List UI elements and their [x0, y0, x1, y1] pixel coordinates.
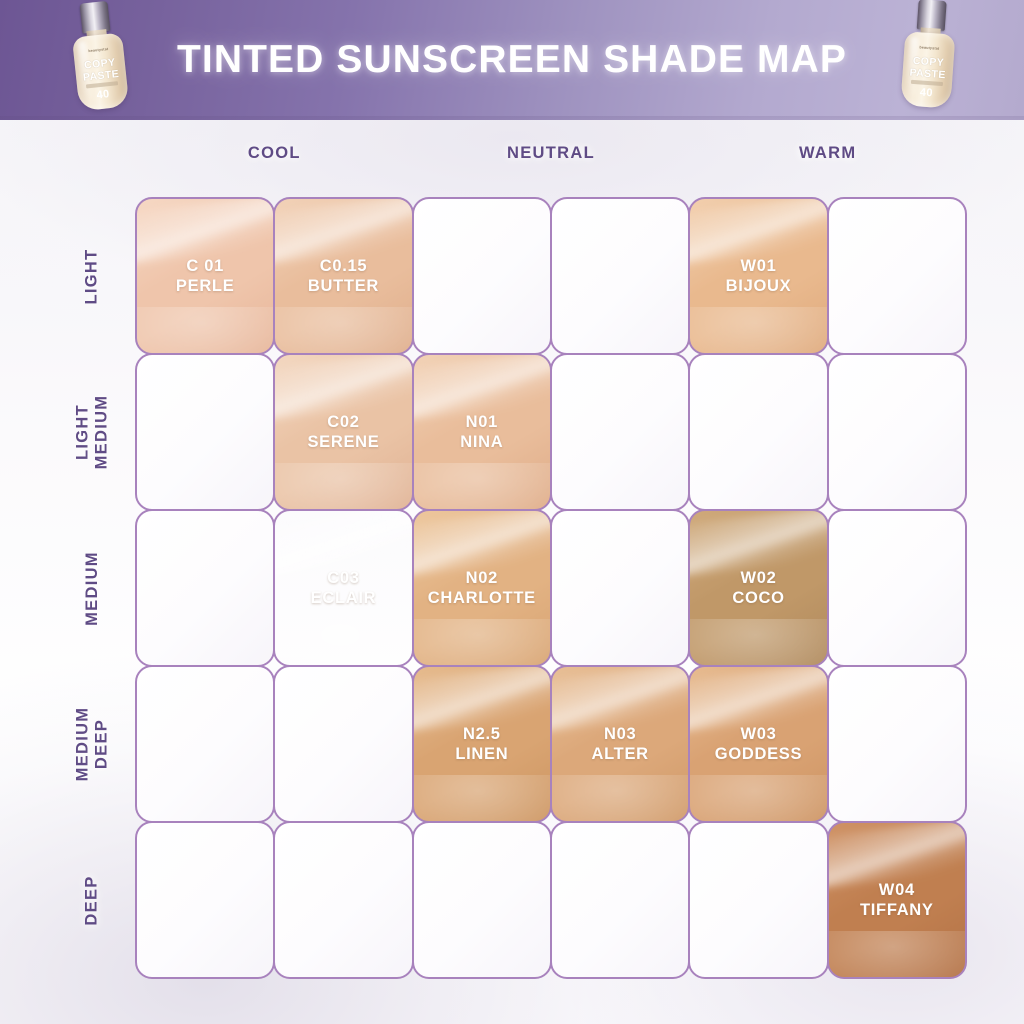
- shade-label: C0.15 BUTTER: [308, 256, 379, 296]
- empty-cell-r1-c4: [688, 353, 828, 511]
- row-header-medium-deep: MEDIUM DEEP: [52, 666, 132, 822]
- shade-map-grid: C 01 PERLEC0.15 BUTTERW01 BIJOUXC02 SERE…: [136, 198, 966, 978]
- empty-cell-r4-c3: [550, 821, 690, 979]
- empty-cell-r0-c2: [412, 197, 552, 355]
- column-header-row: COOLNEUTRALWARM: [136, 144, 966, 178]
- shade-swatch-n2-5-linen[interactable]: N2.5 LINEN: [412, 665, 552, 823]
- shade-swatch-w03-goddess[interactable]: W03 GODDESS: [688, 665, 828, 823]
- sunscreen-bottle-icon-right: beautystat COPY PASTE 40: [898, 0, 959, 110]
- shade-label: C 01 PERLE: [176, 256, 235, 296]
- shade-swatch-c02-serene[interactable]: C02 SERENE: [273, 353, 413, 511]
- shade-label: W03 GODDESS: [715, 724, 802, 764]
- empty-cell-r1-c3: [550, 353, 690, 511]
- shade-label: C02 SERENE: [307, 412, 379, 452]
- row-header-deep: DEEP: [52, 822, 132, 978]
- bottle-body: beautystat COPY PASTE 40: [72, 33, 129, 112]
- empty-cell-r4-c4: [688, 821, 828, 979]
- shade-label: N02 CHARLOTTE: [428, 568, 536, 608]
- column-header-neutral: NEUTRAL: [413, 144, 690, 178]
- header-banner: TINTED SUNSCREEN SHADE MAP beautystat CO…: [0, 0, 1024, 120]
- shade-swatch-n02-charlotte[interactable]: N02 CHARLOTTE: [412, 509, 552, 667]
- empty-cell-r0-c5: [827, 197, 967, 355]
- shade-label: W04 TIFFANY: [860, 880, 934, 920]
- bottle-product-name: COPY PASTE: [74, 56, 126, 84]
- shade-swatch-c-01-perle[interactable]: C 01 PERLE: [135, 197, 275, 355]
- shade-label: W02 COCO: [732, 568, 784, 608]
- shade-swatch-n03-alter[interactable]: N03 ALTER: [550, 665, 690, 823]
- shade-label: N2.5 LINEN: [455, 724, 508, 764]
- page-title: TINTED SUNSCREEN SHADE MAP: [0, 0, 1024, 120]
- row-header-label: MEDIUM DEEP: [73, 707, 111, 782]
- empty-cell-r2-c0: [135, 509, 275, 667]
- empty-cell-r4-c2: [412, 821, 552, 979]
- empty-cell-r2-c5: [827, 509, 967, 667]
- empty-cell-r2-c3: [550, 509, 690, 667]
- shade-swatch-w01-bijoux[interactable]: W01 BIJOUX: [688, 197, 828, 355]
- shade-swatch-w02-coco[interactable]: W02 COCO: [688, 509, 828, 667]
- empty-cell-r4-c1: [273, 821, 413, 979]
- row-header-column: LIGHTLIGHT MEDIUMMEDIUMMEDIUM DEEPDEEP: [52, 198, 132, 978]
- row-header-label: MEDIUM: [83, 551, 102, 626]
- bottle-cap: [917, 0, 947, 31]
- shade-label: N03 ALTER: [592, 724, 649, 764]
- shade-swatch-c0-15-butter[interactable]: C0.15 BUTTER: [273, 197, 413, 355]
- empty-cell-r3-c5: [827, 665, 967, 823]
- bottle-product-name: COPY PASTE: [902, 55, 953, 81]
- bottle-body: beautystat COPY PASTE 40: [900, 31, 955, 108]
- row-header-label: DEEP: [82, 875, 101, 925]
- shade-swatch-w04-tiffany[interactable]: W04 TIFFANY: [827, 821, 967, 979]
- bottle-spf-value: 40: [901, 85, 952, 100]
- row-header-light: LIGHT: [52, 198, 132, 354]
- row-header-label: LIGHT MEDIUM: [73, 395, 111, 470]
- column-header-warm: WARM: [689, 144, 966, 178]
- shade-swatch-c03-eclair[interactable]: C03 ECLAIR: [273, 509, 413, 667]
- empty-cell-r1-c0: [135, 353, 275, 511]
- column-header-cool: COOL: [136, 144, 413, 178]
- empty-cell-r3-c0: [135, 665, 275, 823]
- shade-label: W01 BIJOUX: [726, 256, 792, 296]
- empty-cell-r0-c3: [550, 197, 690, 355]
- shade-label: C03 ECLAIR: [311, 568, 377, 608]
- empty-cell-r4-c0: [135, 821, 275, 979]
- empty-cell-r1-c5: [827, 353, 967, 511]
- row-header-medium: MEDIUM: [52, 510, 132, 666]
- row-header-label: LIGHT: [83, 248, 102, 304]
- shade-swatch-n01-nina[interactable]: N01 NINA: [412, 353, 552, 511]
- sunscreen-bottle-icon-left: beautystat COPY PASTE 40: [67, 0, 132, 113]
- row-header-light-medium: LIGHT MEDIUM: [52, 354, 132, 510]
- empty-cell-r3-c1: [273, 665, 413, 823]
- shade-label: N01 NINA: [460, 412, 503, 452]
